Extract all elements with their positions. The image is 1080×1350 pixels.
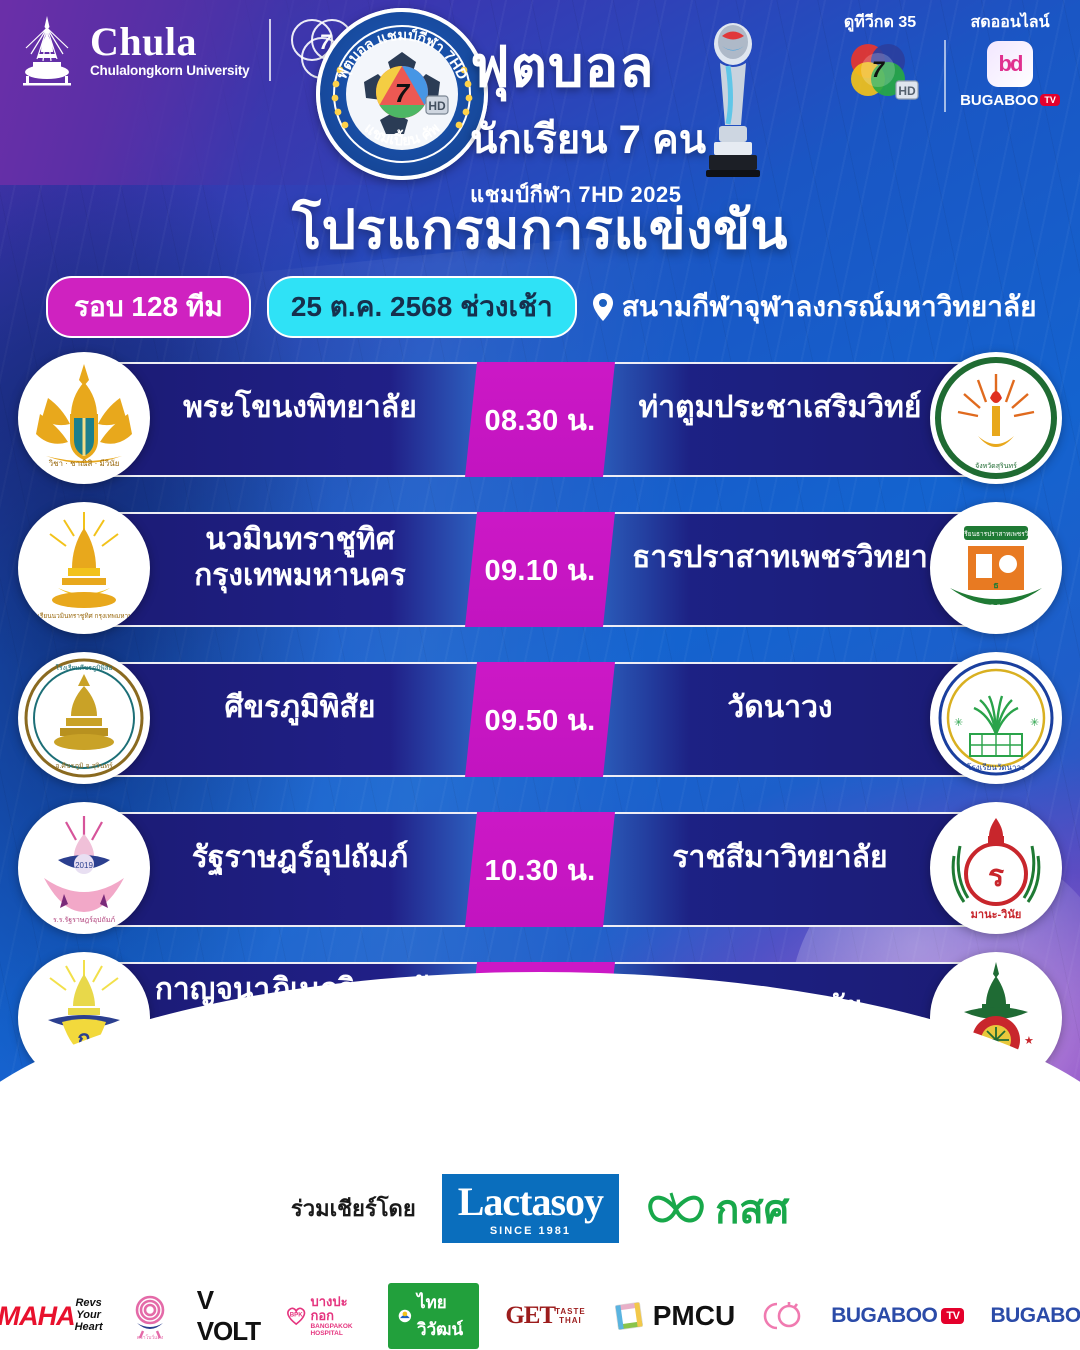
svg-text:โรงเรียนวัดนาวง: โรงเรียนวัดนาวง xyxy=(967,762,1025,772)
home-team-crest: โรงเรียนศีขรภูมิพิสัย อ.ศีขรภูมิ จ.สุริน… xyxy=(18,652,150,784)
away-team-line1: ท่าตูมประชาเสริมวิทย์ xyxy=(638,391,921,424)
svg-text:ธ: ธ xyxy=(993,580,999,590)
match-time: 09.50 น. xyxy=(465,662,615,777)
svg-text:มานะ-วินัย: มานะ-วินัย xyxy=(971,908,1022,921)
home-team-name: รัฐราษฎร์อุปถัมภ์ xyxy=(150,800,450,915)
date-badge: 25 ต.ค. 2568 ช่วงเช้า xyxy=(267,276,577,338)
bpk-name: บางปะกอก xyxy=(310,1295,362,1322)
svg-text:BPK: BPK xyxy=(290,1312,303,1319)
tv-info-divider xyxy=(944,40,946,112)
trophy-icon xyxy=(700,18,766,178)
home-team-line1: พระโขนงพิทยาลัย xyxy=(183,391,417,424)
page-title: โปรแกรมการแข่งขัน xyxy=(0,186,1080,272)
venue-block: สนามกีฬาจุฬาลงกรณ์มหาวิทยาลัย xyxy=(593,285,1037,329)
svg-text:ร.ร.รัฐราษฎร์อุปถัมภ์: ร.ร.รัฐราษฎร์อุปถัมภ์ xyxy=(53,916,115,924)
chula-emblem-icon xyxy=(18,14,76,86)
chula-logo: Chula Chulalongkorn University 7 HD xyxy=(18,14,363,86)
home-team-name: ศีขรภูมิพิสัย xyxy=(150,650,450,765)
secondary-sponsors: ◎YAMAHA Revs Your Heart ตราโบว์แดง V VOL… xyxy=(0,1292,1080,1340)
emblem-graphics-icon: 7 HD ฟุตบอล แชมป์กีฬา 7HD แชมเปี้ยน คัพ xyxy=(316,8,488,180)
kanomwan-label: ตราโบว์แดง xyxy=(137,1334,164,1339)
crest-watnawong-icon: ✳ ✳ โรงเรียนวัดนาวง xyxy=(930,652,1062,784)
tv-online-col: สดออนไลน์ bd BUGABOOTV xyxy=(956,10,1064,109)
cu-pink-icon xyxy=(761,1299,805,1333)
get-tagline: TASTE THAI xyxy=(555,1307,586,1325)
round-badge: รอบ 128 ทีม xyxy=(46,276,251,338)
home-team-name: พระโขนงพิทยาลัย xyxy=(150,350,450,465)
main-sponsors: ร่วมเชียร์โดย Lactasoy SINCE 1981 กสศ xyxy=(0,1174,1080,1243)
svg-text:✳: ✳ xyxy=(954,717,963,729)
sponsor-get: GET TASTE THAI xyxy=(505,1292,585,1340)
bugaboo-tv-wordmark: BUGABOOTV xyxy=(956,92,1064,109)
location-pin-icon xyxy=(593,293,613,321)
lactasoy-since: SINCE 1981 xyxy=(458,1225,603,1237)
crest-phrakhanong-icon: วิชา · ชาณิสิ · มีวินัย xyxy=(18,352,150,484)
away-team-name: วัดนาวง xyxy=(630,650,930,765)
away-team-crest: โรงเรียนธารปราสาทเพชรวิทยา ธ ประพฤติดี ม… xyxy=(930,502,1062,634)
match-row[interactable]: โรงเรียนศีขรภูมิพิสัย อ.ศีขรภูมิ จ.สุริน… xyxy=(0,650,1080,800)
svg-text:★: ★ xyxy=(1024,1035,1034,1047)
header-divider xyxy=(269,19,271,81)
lactasoy-logo: Lactasoy SINCE 1981 xyxy=(442,1174,619,1243)
sponsor-cu-pink xyxy=(761,1292,805,1340)
footer: ร่วมเชียร์โดย Lactasoy SINCE 1981 กสศ ◎Y… xyxy=(0,1168,1080,1350)
away-team-name: ราชสีมาวิทยาลัย xyxy=(630,800,930,915)
kasod-butterfly-icon xyxy=(645,1187,707,1231)
svg-text:ร: ร xyxy=(988,860,1004,893)
away-team-name: ท่าตูมประชาเสริมวิทย์ xyxy=(630,350,930,465)
bugaboo-tv-tag: TV xyxy=(1040,94,1060,106)
sponsor-yamaha: ◎YAMAHA Revs Your Heart xyxy=(0,1292,103,1340)
tv-channel-col: ดูทีวีกด 35 7 HD xyxy=(826,10,934,105)
kanomwan-icon: ตราโบว์แดง xyxy=(129,1293,171,1339)
home-team-crest: โรงเรียนนวมินทราชูทิศ กรุงเทพมหานคร xyxy=(18,502,150,634)
tournament-emblem: 7 HD ฟุตบอล แชมป์กีฬา 7HD แชมเปี้ยน คัพ xyxy=(316,8,488,180)
bugaboo-word: BUGABOO xyxy=(960,92,1038,109)
tv-online-caption: สดออนไลน์ xyxy=(956,10,1064,35)
home-team-line1: รัฐราษฎร์อุปถัมภ์ xyxy=(192,841,408,874)
bugaboo-shop-name: BUGABOO xyxy=(990,1304,1080,1328)
home-team-line2: กรุงเทพมหานคร xyxy=(194,559,406,592)
bugaboo-tv-name: BUGABOO xyxy=(831,1304,937,1328)
sponsor-kanomwan: ตราโบว์แดง xyxy=(129,1292,171,1340)
yamaha-tagline: Revs Your Heart xyxy=(75,1297,103,1333)
lactasoy-word: Lactasoy xyxy=(458,1182,603,1222)
svg-text:HD: HD xyxy=(898,84,916,98)
sponsor-bugaboo-tv: BUGABOO TV xyxy=(831,1292,964,1340)
away-team-line1: ราชสีมาวิทยาลัย xyxy=(672,841,887,874)
svg-text:วิชา · ชาณิสิ · มีวินัย: วิชา · ชาณิสิ · มีวินัย xyxy=(48,459,119,468)
crest-ratchasima-icon: ร มานะ-วินัย xyxy=(930,802,1062,934)
bpk-heart-icon: BPK xyxy=(286,1302,306,1330)
thaivivat-name: ไทยวิวัฒน์ xyxy=(417,1289,469,1343)
svg-text:7: 7 xyxy=(872,57,886,82)
chula-name: Chula xyxy=(90,22,249,62)
poster-root: Chula Chulalongkorn University 7 HD xyxy=(0,0,1080,1350)
svg-text:ประพฤติดี มีคุณธรรม: ประพฤติดี มีคุณธรรม xyxy=(964,604,1028,612)
crest-thatoom-icon: จังหวัดสุรินทร์ xyxy=(930,352,1062,484)
match-row[interactable]: วิชา · ชาณิสิ · มีวินัย พระโขนงพิทยาลัย … xyxy=(0,350,1080,500)
bugaboo-tv-chip: TV xyxy=(941,1308,964,1324)
svg-text:จังหวัดสุรินทร์: จังหวัดสุรินทร์ xyxy=(975,462,1017,470)
away-team-crest: จังหวัดสุรินทร์ xyxy=(930,352,1062,484)
home-team-line1: นวมินทราชูทิศ xyxy=(205,523,395,556)
thaivivat-sun-icon xyxy=(398,1306,412,1326)
event-title-line2: นักเรียน 7 คน xyxy=(470,107,706,171)
ch7hd-color-logo-icon: 7 HD xyxy=(840,41,920,105)
chula-full-name: Chulalongkorn University xyxy=(90,64,249,78)
crest-ratrat-icon: 2019 ร.ร.รัฐราษฎร์อุปถัมภ์ xyxy=(18,802,150,934)
kasod-logo: กสศ xyxy=(645,1177,789,1241)
away-team-line1: วัดนาวง xyxy=(727,691,832,724)
match-row[interactable]: 2019 ร.ร.รัฐราษฎร์อุปถัมภ์ รัฐราษฎร์อุปถ… xyxy=(0,800,1080,950)
sponsor-label: ร่วมเชียร์โดย xyxy=(291,1191,416,1226)
bugaboo-app-icon: bd xyxy=(987,41,1033,87)
bpk-subtitle: BANGPAKOK HOSPITAL xyxy=(310,1323,362,1337)
get-name: GET xyxy=(505,1302,555,1330)
svg-text:อ.ศีขรภูมิ จ.สุรินทร์: อ.ศีขรภูมิ จ.สุรินทร์ xyxy=(55,762,113,770)
svg-text:✳: ✳ xyxy=(1030,717,1039,729)
event-title-line1: ฟุตบอล xyxy=(470,22,706,111)
svg-text:2019: 2019 xyxy=(75,861,93,870)
sponsor-bugaboo-shop: BUGABOO SHOP xyxy=(990,1292,1080,1340)
crest-sikhoraphum-icon: โรงเรียนศีขรภูมิพิสัย อ.ศีขรภูมิ จ.สุริน… xyxy=(18,652,150,784)
kasod-word: กสศ xyxy=(715,1177,789,1241)
bugaboo-bd-letters: bd xyxy=(999,51,1022,77)
match-row[interactable]: โรงเรียนนวมินทราชูทิศ กรุงเทพมหานคร นวมิ… xyxy=(0,500,1080,650)
home-team-crest: 2019 ร.ร.รัฐราษฎร์อุปถัมภ์ xyxy=(18,802,150,934)
tv-channel-caption: ดูทีวีกด 35 xyxy=(826,10,934,35)
tv-info: ดูทีวีกด 35 7 HD สดออนไลน์ bd xyxy=(826,10,1064,112)
pmcu-square-icon xyxy=(612,1299,646,1333)
crest-nawamin-icon: โรงเรียนนวมินทราชูทิศ กรุงเทพมหานคร xyxy=(18,502,150,634)
vvolt-name: V VOLT xyxy=(197,1285,260,1347)
match-time: 10.30 น. xyxy=(465,812,615,927)
away-team-line1: ธารปราสาทเพชรวิทยา xyxy=(632,541,928,574)
away-team-crest: ✳ ✳ โรงเรียนวัดนาวง xyxy=(930,652,1062,784)
header: Chula Chulalongkorn University 7 HD xyxy=(0,0,1080,185)
sponsor-bpk: BPK บางปะกอก BANGPAKOK HOSPITAL xyxy=(286,1292,362,1340)
home-team-line1: ศีขรภูมิพิสัย xyxy=(225,691,376,724)
svg-text:โรงเรียนศีขรภูมิพิสัย: โรงเรียนศีขรภูมิพิสัย xyxy=(56,664,113,672)
meta-row: รอบ 128 ทีม 25 ต.ค. 2568 ช่วงเช้า สนามกี… xyxy=(46,276,1060,338)
svg-text:โรงเรียนนวมินทราชูทิศ กรุงเทพม: โรงเรียนนวมินทราชูทิศ กรุงเทพมหานคร xyxy=(28,612,141,620)
match-time: 08.30 น. xyxy=(465,362,615,477)
home-team-crest: วิชา · ชาณิสิ · มีวินัย xyxy=(18,352,150,484)
sponsor-vvolt: V VOLT xyxy=(197,1292,260,1340)
svg-text:7: 7 xyxy=(395,78,411,108)
pmcu-name: PMCU xyxy=(653,1300,735,1332)
match-time: 09.10 น. xyxy=(465,512,615,627)
svg-text:HD: HD xyxy=(428,99,446,113)
sponsor-thaivivat: ไทยวิวัฒน์ xyxy=(388,1292,479,1340)
away-team-name: ธารปราสาทเพชรวิทยา xyxy=(630,500,930,615)
svg-text:โรงเรียนธารปราสาทเพชรวิทยา: โรงเรียนธารปราสาทเพชรวิทยา xyxy=(952,530,1041,538)
home-team-name: นวมินทราชูทิศ กรุงเทพมหานคร xyxy=(150,500,450,615)
event-title-block: ฟุตบอล นักเรียน 7 คน แชมป์กีฬา 7HD 2025 xyxy=(470,22,706,212)
sponsor-pmcu: PMCU xyxy=(612,1292,735,1340)
chula-text: Chula Chulalongkorn University xyxy=(90,22,249,78)
crest-thanprasat-icon: โรงเรียนธารปราสาทเพชรวิทยา ธ ประพฤติดี ม… xyxy=(930,502,1062,634)
venue-name: สนามกีฬาจุฬาลงกรณ์มหาวิทยาลัย xyxy=(622,285,1037,329)
away-team-crest: ร มานะ-วินัย xyxy=(930,802,1062,934)
yamaha-name: YAMAHA xyxy=(0,1301,75,1331)
